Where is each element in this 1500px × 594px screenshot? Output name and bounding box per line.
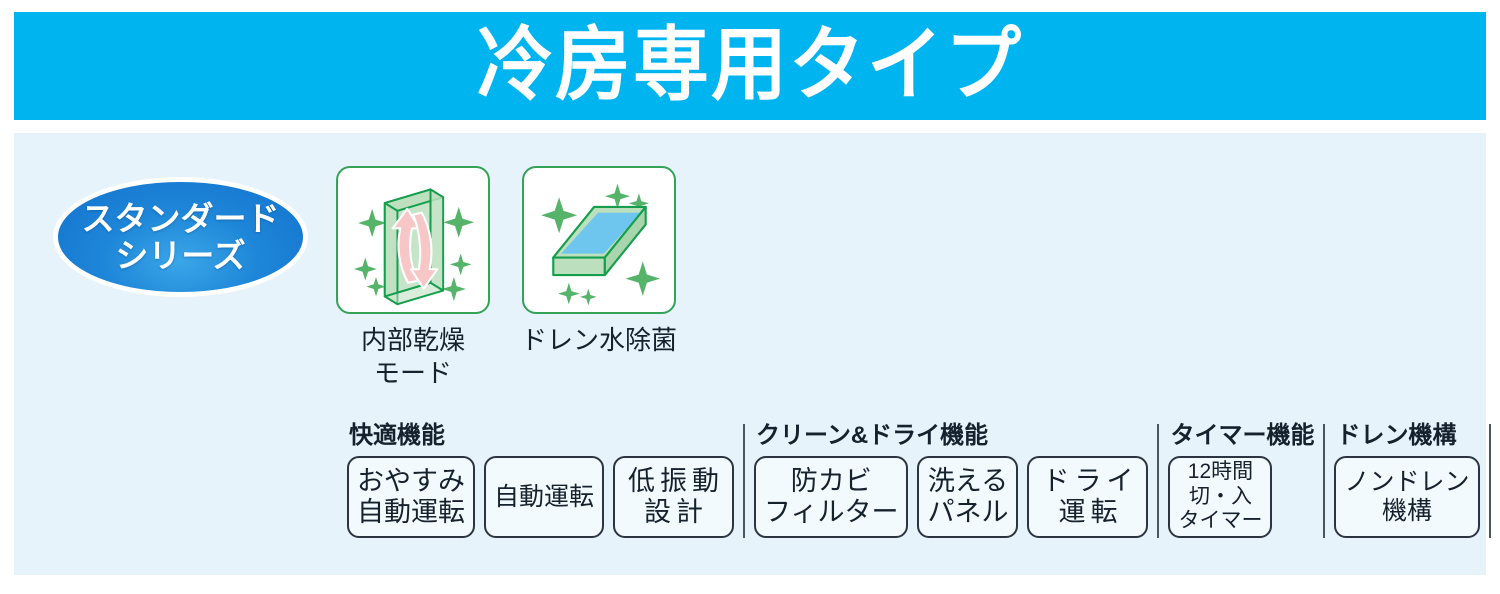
feature-box: 防カビフィルター <box>754 456 908 538</box>
feature-box-line: 設計 <box>639 497 708 528</box>
feature-box: 洗えるパネル <box>917 456 1018 538</box>
feature-box: ノンドレン機構 <box>1334 456 1479 538</box>
header-banner: 冷房専用タイプ <box>14 12 1486 120</box>
feature-box-line: 低振動 <box>623 466 724 497</box>
feature-icon-caption-internal-drying: 内部乾燥 モード <box>308 324 518 391</box>
feature-group: 快適機能おやすみ自動運転自動運転低振動設計 <box>338 424 743 538</box>
feature-group-title: ドレン機構 <box>1334 424 1479 448</box>
feature-box-line: 運転 <box>1053 497 1122 528</box>
feature-box-list: 12時間切・入タイマー <box>1168 456 1314 538</box>
series-badge-line1: スタンダード <box>82 201 280 237</box>
feature-box-line: フィルター <box>764 497 898 528</box>
feature-box-list: おやすみ自動運転自動運転低振動設計 <box>347 456 734 538</box>
feature-icon-card-internal-drying <box>336 166 490 314</box>
feature-box: 低振動設計 <box>613 456 734 538</box>
drain-water-tray-icon <box>524 168 674 312</box>
feature-box-line: 洗える <box>928 466 1008 497</box>
feature-box: 自動運転 <box>484 456 604 538</box>
feature-group-title: クリーン&ドライ機能 <box>754 424 1148 448</box>
feature-box: ドライ運転 <box>1027 456 1148 538</box>
feature-box-list: ノンドレン機構 <box>1334 456 1479 538</box>
feature-group: ドレン機構ノンドレン機構 <box>1323 424 1488 538</box>
feature-group: タイマー機能12時間切・入タイマー <box>1157 424 1323 538</box>
caption-line-1: 内部乾燥 <box>308 324 518 357</box>
product-feature-panel: 冷房専用タイプ スタンダード シリーズ <box>0 0 1500 594</box>
page-title: 冷房専用タイプ <box>477 26 1023 107</box>
caption-line-2: モード <box>308 357 518 390</box>
feature-box-line: 切・入 <box>1189 485 1252 509</box>
series-badge: スタンダード シリーズ <box>58 182 303 292</box>
internal-drying-box-icon <box>338 168 488 312</box>
feature-box: おやすみ自動運転 <box>347 456 475 538</box>
feature-box-line: タイマー <box>1178 509 1262 533</box>
feature-box-line: ドライ <box>1037 466 1138 497</box>
feature-groups-row: 快適機能おやすみ自動運転自動運転低振動設計クリーン&ドライ機能防カビフィルター洗… <box>338 424 1500 554</box>
feature-icon-caption-drain-water: ドレン水除菌 <box>494 324 704 357</box>
feature-box-line: パネル <box>927 497 1008 528</box>
feature-group: クリーン&ドライ機能防カビフィルター洗えるパネルドライ運転 <box>743 424 1157 538</box>
feature-group-title: タイマー機能 <box>1168 424 1314 448</box>
feature-box-list: 防カビフィルター洗えるパネルドライ運転 <box>754 456 1148 538</box>
feature-icon-card-drain-water <box>522 166 676 314</box>
feature-box-line: おやすみ <box>357 466 465 497</box>
feature-box-line: ノンドレン <box>1344 468 1469 497</box>
feature-group-title: 快適機能 <box>347 424 734 448</box>
feature-box: 12時間切・入タイマー <box>1168 456 1272 538</box>
feature-group: リモコン突起ボタン <box>1489 424 1500 538</box>
feature-box-line: 自動運転 <box>357 497 465 528</box>
caption-line-1: ドレン水除菌 <box>494 324 704 357</box>
feature-box-line: 12時間 <box>1188 460 1253 484</box>
feature-box-line: 防カビ <box>791 466 872 497</box>
series-badge-line2: シリーズ <box>115 238 245 274</box>
feature-box-line: 自動運転 <box>494 483 594 512</box>
feature-box-line: 機構 <box>1382 497 1432 526</box>
